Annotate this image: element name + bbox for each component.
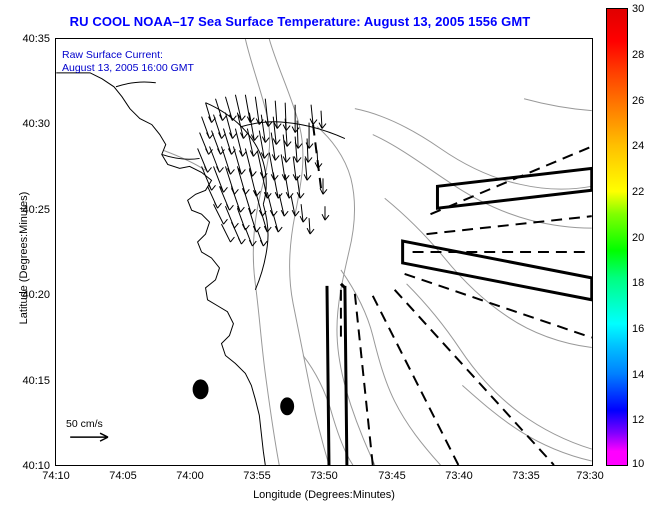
colorbar-tick-label: 12 — [632, 414, 644, 426]
annotation-block: Raw Surface Current: August 13, 2005 16:… — [62, 49, 194, 75]
colorbar — [606, 8, 628, 466]
sst-map-figure: RU COOL NOAA–17 Sea Surface Temperature:… — [0, 0, 651, 518]
radar-site-marker — [193, 379, 209, 399]
x-tick-label: 73:35 — [496, 470, 556, 482]
y-tick-label: 40:15 — [4, 375, 50, 387]
map-plot-area: Raw Surface Current: August 13, 2005 16:… — [55, 38, 593, 466]
x-tick-label: 74:05 — [93, 470, 153, 482]
y-tick-label: 40:35 — [4, 33, 50, 45]
x-tick-label: 73:30 — [560, 470, 620, 482]
annotation-line-1: Raw Surface Current: — [62, 49, 194, 62]
x-tick-label: 73:50 — [294, 470, 354, 482]
colorbar-tick-label: 24 — [632, 140, 644, 152]
colorbar-tick-label: 28 — [632, 49, 644, 61]
x-tick-label: 73:40 — [429, 470, 489, 482]
colorbar-tick-label: 18 — [632, 277, 644, 289]
y-axis-label: Latitude (Degrees:Minutes) — [18, 158, 30, 358]
colorbar-tick-label: 30 — [632, 3, 644, 15]
colorbar-tick-label: 20 — [632, 232, 644, 244]
colorbar-tick-label: 10 — [632, 458, 644, 470]
surface-current-vectors — [198, 95, 329, 246]
x-tick-label: 73:45 — [362, 470, 422, 482]
colorbar-tick-label: 22 — [632, 186, 644, 198]
y-tick-label: 40:30 — [4, 118, 50, 130]
colorbar-tick-label: 26 — [632, 95, 644, 107]
x-tick-label: 74:00 — [160, 470, 220, 482]
map-canvas — [56, 39, 592, 465]
colorbar-tick-label: 16 — [632, 323, 644, 335]
coastline — [56, 73, 345, 465]
x-axis-label: Longitude (Degrees:Minutes) — [55, 489, 593, 501]
colorbar-tick-label: 14 — [632, 369, 644, 381]
figure-title: RU COOL NOAA–17 Sea Surface Temperature:… — [0, 14, 600, 29]
radar-site-markers — [193, 379, 295, 415]
shipping-lanes — [313, 125, 592, 465]
radar-site-marker — [280, 397, 294, 415]
scale-bar-label: 50 cm/s — [66, 418, 103, 430]
x-tick-label: 73:55 — [227, 470, 287, 482]
scale-reference-arrow — [70, 433, 108, 441]
x-tick-label: 74:10 — [26, 470, 86, 482]
annotation-line-2: August 13, 2005 16:00 GMT — [62, 62, 194, 75]
